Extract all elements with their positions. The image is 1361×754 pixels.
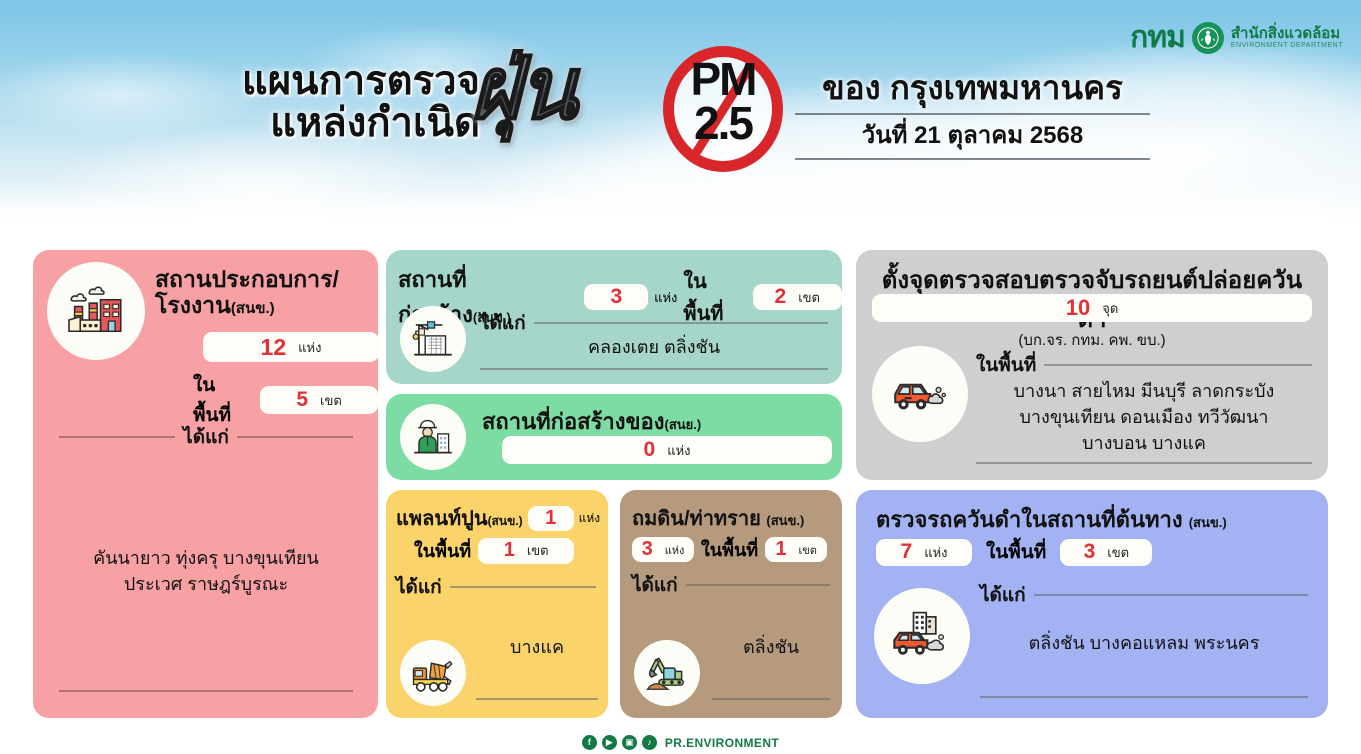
excavator-icon — [634, 640, 700, 706]
soil-sand-daigae-divider: ได้แก่ — [632, 570, 830, 600]
checkpoint-bottom-divider — [976, 462, 1312, 464]
social-handle: PR.ENVIRONMENT — [665, 736, 779, 750]
checkpoint-area-divider: ในพื้นที่ — [976, 350, 1312, 380]
card-factory: สถานประกอบการ/ โรงงาน(สนข.) 12 แห่ง ในพื… — [33, 250, 378, 718]
card-soil-sand: ถมดิน/ท่าทราย (สนข.) 3 แห่ง ในพื้นที่ 1 … — [620, 490, 842, 718]
city-label: ของ กรุงเทพมหานคร — [795, 68, 1150, 108]
construction-site-bottom-divider — [480, 368, 828, 370]
card-checkpoint: ตั้งจุดตรวจสอบตรวจจับรถยนต์ปล่อยควันดำ 1… — [856, 250, 1328, 480]
concrete-plant-area-pill: 1 เขต — [478, 538, 574, 564]
pm25-badge-icon: PM 2.5 — [663, 46, 783, 172]
divider-line — [450, 586, 596, 588]
construction-site-count-value: 3 — [610, 285, 622, 309]
department-name-en: ENVIRONMENT DEPARTMENT — [1231, 42, 1343, 49]
soil-sand-counts-row: 3 แห่ง ในพื้นที่ 1 เขต — [632, 535, 827, 564]
concrete-plant-district-list: บางแค — [476, 634, 598, 660]
construction-site-of-title: สถานที่ก่อสร้างของ(สนย.) — [482, 404, 701, 439]
dust-word: ฝุ่น — [470, 46, 575, 132]
soil-sand-area-pill: 1 เขต — [765, 537, 827, 562]
card-construction-site: สถานที่ก่อสร้าง(สนข.) 3 แห่ง ในพื้นที่ 2… — [386, 250, 842, 384]
report-date: วันที่ 21 ตุลาคม 2568 — [795, 119, 1150, 153]
pm25-pm-label: PM — [663, 58, 783, 100]
smoking-car-building-icon — [874, 588, 970, 684]
concrete-plant-count-pill: 1 — [528, 506, 574, 531]
concrete-plant-agency: (สนข.) — [488, 514, 523, 528]
header-divider-bottom — [795, 158, 1150, 160]
soil-sand-count-value: 3 — [642, 538, 653, 561]
factory-area-label: ในพื้นที่ — [193, 370, 252, 430]
factory-title-line1: สถานประกอบการ/ — [155, 266, 339, 292]
header-subtitle-block: ของ กรุงเทพมหานคร วันที่ 21 ตุลาคม 2568 — [795, 68, 1150, 160]
concrete-plant-header-row: แพลนท์ปูน(สนข.) 1 แห่ง — [396, 502, 600, 534]
pm25-number-label: 2.5 — [663, 102, 783, 146]
divider-line — [1034, 594, 1308, 596]
soil-sand-agency: (สนข.) — [766, 513, 804, 528]
bkk-environment-logo: กทม สำนักสิ่งแวดล้อม ENVIRONMENT DEPARTM… — [1130, 22, 1343, 54]
concrete-plant-count-value: 1 — [545, 507, 556, 530]
origin-smoke-count-pill: 7 แห่ง — [876, 539, 972, 566]
checkpoint-district-list: บางนา สายไหม มีนบุรี ลาดกระบัง บางขุนเที… — [976, 378, 1312, 456]
origin-smoke-district-list: ตลิ่งชัน บางคอแหลม พระนคร — [980, 630, 1308, 656]
factory-count-unit: แห่ง — [298, 337, 321, 358]
checkpoint-area-label: ในพื้นที่ — [976, 350, 1036, 380]
page-title-line1: แผนการตรวจ — [180, 60, 480, 102]
origin-smoke-bottom-divider — [980, 696, 1308, 698]
soil-sand-title-text: ถมดิน/ท่าทราย — [632, 508, 761, 530]
factory-agency: (สนข.) — [231, 300, 275, 317]
factory-area-unit: เขต — [320, 390, 342, 411]
card-concrete-plant: แพลนท์ปูน(สนข.) 1 แห่ง ในพื้นที่ 1 เขต ไ… — [386, 490, 608, 718]
checkpoint-count-pill: 10 จุด — [872, 294, 1312, 322]
construction-site-of-title-text: สถานที่ก่อสร้างของ — [482, 409, 665, 434]
engineer-icon — [400, 404, 466, 470]
smoking-car-icon — [872, 346, 968, 442]
origin-smoke-area-label: ในพื้นที่ — [986, 537, 1046, 567]
construction-site-district-list: คลองเตย ตลิ่งชัน — [480, 334, 828, 360]
factory-daigae-label: ได้แก่ — [183, 422, 229, 452]
cement-truck-icon — [400, 640, 466, 706]
origin-smoke-counts-row: 7 แห่ง ในพื้นที่ 3 เขต — [876, 537, 1152, 567]
tiktok-icon[interactable]: ♪ — [642, 735, 657, 750]
divider-line — [534, 322, 828, 324]
department-name: สำนักสิ่งแวดล้อม ENVIRONMENT DEPARTMENT — [1231, 26, 1343, 49]
checkpoint-agencies: (บก.จร. กทม. คพ. ขบ.) — [872, 328, 1312, 352]
soil-sand-daigae-label: ได้แก่ — [632, 570, 678, 600]
factory-title-line2: โรงงาน(สนข.) — [155, 292, 339, 318]
crane-icon — [400, 306, 466, 372]
concrete-plant-daigae-label: ได้แก่ — [396, 572, 442, 602]
concrete-plant-count-unit: แห่ง — [579, 509, 601, 528]
construction-site-count-pill: 3 — [584, 284, 648, 310]
footer-social-bar: f ▶ ▣ ♪ PR.ENVIRONMENT — [0, 735, 1361, 750]
factory-bottom-divider — [59, 690, 353, 692]
construction-site-of-count-pill: 0 แห่ง — [502, 436, 832, 464]
construction-site-count-unit: แห่ง — [654, 287, 677, 308]
page-title: แผนการตรวจ แหล่งกำเนิด — [180, 60, 480, 144]
origin-smoke-area-value: 3 — [1084, 540, 1096, 564]
soil-sand-count-pill: 3 แห่ง — [632, 537, 694, 562]
construction-site-area-pill: 2 เขต — [753, 284, 842, 310]
soil-sand-title: ถมดิน/ท่าทราย (สนข.) — [632, 502, 804, 534]
origin-smoke-title-text: ตรวจรถควันดำในสถานที่ต้นทาง — [876, 507, 1183, 532]
factory-daigae-divider: ได้แก่ — [59, 422, 353, 452]
soil-sand-area-unit: เขต — [798, 541, 816, 559]
soil-sand-district-list: ตลิ่งชัน — [712, 634, 830, 660]
factory-icon — [47, 262, 145, 360]
card-origin-smoke: ตรวจรถควันดำในสถานที่ต้นทาง (สนข.) 7 แห่… — [856, 490, 1328, 718]
construction-site-of-agency: (สนย.) — [665, 417, 702, 432]
youtube-icon[interactable]: ▶ — [602, 735, 617, 750]
facebook-icon[interactable]: f — [582, 735, 597, 750]
divider-line — [686, 584, 830, 586]
factory-area-value: 5 — [296, 388, 308, 412]
concrete-plant-area-row: ในพื้นที่ 1 เขต — [414, 536, 574, 565]
department-name-th: สำนักสิ่งแวดล้อม — [1231, 26, 1343, 42]
divider-right — [237, 436, 353, 438]
concrete-plant-area-label: ในพื้นที่ — [414, 536, 471, 565]
soil-sand-bottom-divider — [712, 698, 830, 700]
concrete-plant-daigae-divider: ได้แก่ — [396, 572, 596, 602]
divider-line — [1044, 364, 1312, 366]
factory-area-pill: 5 เขต — [260, 386, 378, 414]
construction-site-of-count-value: 0 — [644, 438, 656, 462]
concrete-plant-title: แพลนท์ปูน(สนข.) — [396, 502, 523, 534]
factory-count-pill: 12 แห่ง — [203, 332, 379, 362]
construction-site-of-count-unit: แห่ง — [667, 440, 690, 461]
origin-smoke-area-unit: เขต — [1107, 542, 1129, 563]
header-divider-top — [795, 113, 1150, 115]
bkk-abbr-label: กทม — [1130, 23, 1185, 53]
origin-smoke-daigae-label: ได้แก่ — [980, 580, 1026, 610]
origin-smoke-title: ตรวจรถควันดำในสถานที่ต้นทาง (สนข.) — [876, 502, 1227, 537]
concrete-plant-title-text: แพลนท์ปูน — [396, 508, 488, 530]
header-banner: กทม สำนักสิ่งแวดล้อม ENVIRONMENT DEPARTM… — [0, 0, 1361, 228]
divider-left — [59, 436, 175, 438]
card-construction-site-of: สถานที่ก่อสร้างของ(สนย.) 0 แห่ง — [386, 394, 842, 480]
bkk-seal-icon — [1192, 22, 1224, 54]
concrete-plant-area-value: 1 — [504, 539, 515, 562]
construction-site-area-value: 2 — [775, 285, 787, 309]
origin-smoke-agency: (สนข.) — [1189, 515, 1227, 530]
factory-title-text: โรงงาน — [155, 292, 231, 318]
origin-smoke-count-unit: แห่ง — [924, 542, 947, 563]
soil-sand-count-unit: แห่ง — [665, 541, 685, 559]
concrete-plant-bottom-divider — [476, 698, 598, 700]
factory-area-row: ในพื้นที่ 5 เขต — [193, 370, 378, 430]
factory-district-list: คันนายาว ทุ่งครุ บางขุนเทียน ประเวศ ราษฎ… — [47, 545, 365, 597]
page-title-line2: แหล่งกำเนิด — [180, 102, 480, 144]
checkpoint-count-unit: จุด — [1102, 298, 1118, 319]
construction-site-area-unit: เขต — [798, 287, 820, 308]
factory-count-value: 12 — [261, 334, 287, 361]
soil-sand-area-label: ในพื้นที่ — [701, 535, 758, 564]
checkpoint-count-value: 10 — [1066, 295, 1090, 321]
origin-smoke-daigae-divider: ได้แก่ — [980, 580, 1308, 610]
origin-smoke-area-pill: 3 เขต — [1060, 539, 1152, 566]
soil-sand-area-value: 1 — [775, 538, 786, 561]
origin-smoke-count-value: 7 — [901, 540, 913, 564]
instagram-icon[interactable]: ▣ — [622, 735, 637, 750]
concrete-plant-area-unit: เขต — [527, 540, 549, 561]
